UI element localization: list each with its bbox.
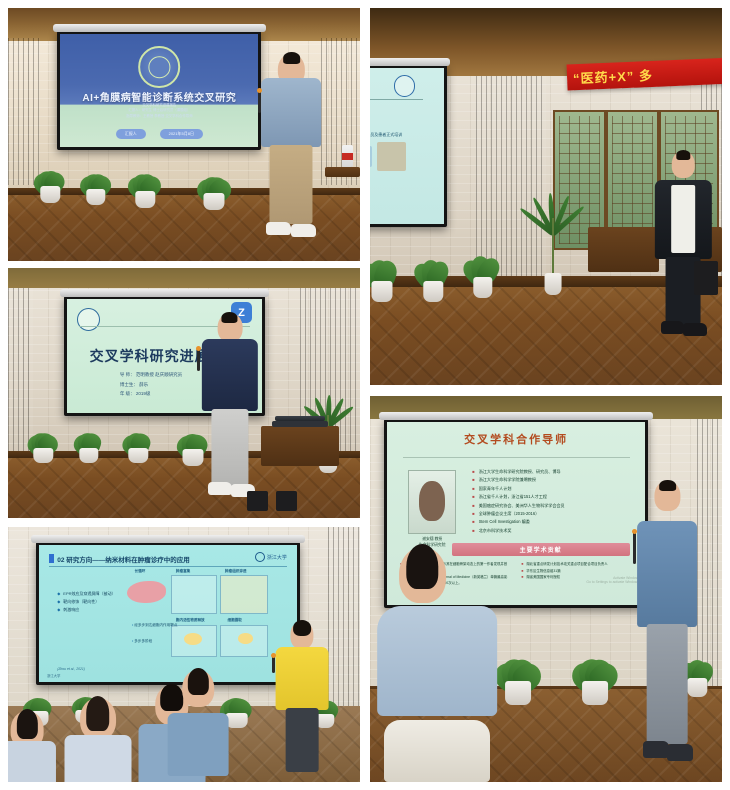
list-item: ◆靶向修饰（靶向性） [57, 598, 115, 606]
scene-lecture-hall: 02 研究方向——纳米材料在肿瘤诊疗中的应用 浙江大学 ◆EPR效应及穿透屏障（… [8, 527, 360, 782]
collage-panel-bottom-right[interactable]: 交叉学科合作导师 谢安穗 教授 生命科学研究院 ■浙江大学生命科学研究院教授、研… [370, 396, 722, 782]
slide-figure [377, 142, 406, 170]
diagram-caption: 细胞摄取 [227, 618, 241, 623]
diagram-caption: 肿瘤富集 [176, 569, 190, 574]
presenter [202, 313, 258, 501]
slide-index: 02 [57, 557, 64, 564]
scene-pavilion-hall: “医药+X” 多 增加： 医疗机构： 对于医护人员及患者正式培训 避免感染发生； [370, 8, 722, 385]
presenter-legs [286, 708, 319, 771]
laptop [272, 421, 328, 427]
crest-icon [77, 308, 100, 331]
list-item: ■全球肿瘤会议主席（2015-2016） [472, 510, 632, 518]
water-bottle [342, 145, 353, 168]
audience-member [68, 698, 128, 782]
presenter-shoe [661, 321, 685, 334]
audience-torso [168, 713, 229, 776]
list-item: ■浙江省千人计划，浙江省151人才工程 [472, 493, 632, 501]
presenter [655, 151, 711, 340]
list-item: ■国家青年千人计划 [472, 485, 632, 493]
audience-head [80, 698, 116, 740]
collage-panel-bottom-left[interactable]: 02 研究方向——纳米材料在肿瘤诊疗中的应用 浙江大学 ◆EPR效应及穿透屏障（… [8, 527, 360, 782]
presenter-shoe [208, 482, 232, 495]
laptop-table [261, 426, 338, 466]
slide-meta: 导 师： 范明教授 赵庆顺研究员 博士生： 薛乐 年 级： 2019级 [120, 370, 182, 398]
scene-lecture-hall: AI+角膜病智能诊断系统交叉研究 交叉学科研究进展报告 汇报人：研究生 博士后研… [8, 8, 360, 261]
list-item: ■Stem Cell Investigation 编委 [472, 518, 632, 526]
list-item: ■浙江大学生命科学研究院教授、研究员、博导 [472, 468, 632, 476]
slide-note: • 多步多阶段 [132, 638, 152, 645]
screen-rail [379, 412, 654, 420]
slide-meta-line-3: 年 级： 2019级 [120, 389, 182, 398]
potted-plant [117, 423, 159, 463]
speaker-box [694, 261, 719, 295]
screen-rail [31, 535, 306, 543]
audience-member [170, 670, 226, 772]
potted-plant [191, 165, 237, 211]
speaker-box [276, 491, 297, 511]
microphone [197, 349, 200, 372]
audience-torso [8, 741, 56, 782]
armchair [384, 720, 490, 782]
scene-lecture-hall: Z 交叉学科研究进展报告 导 师： 范明教授 赵庆顺研究员 博士生： 薛乐 年 … [8, 268, 360, 518]
screen-rail [53, 24, 265, 32]
slide-meta-line-2: 博士生： 薛乐 [120, 380, 182, 389]
diagram-caption: 胞内活性物质释放 [176, 618, 205, 623]
cell-blob [238, 633, 253, 644]
slide-research-direction: 02 研究方向——纳米材料在肿瘤诊疗中的应用 浙江大学 ◆EPR效应及穿透屏障（… [39, 545, 297, 682]
slide-stamp: 浙江大学 [47, 673, 61, 678]
pill-presenter: 汇报人 [116, 129, 146, 139]
photo-collage: AI+角膜病智能诊断系统交叉研究 交叉学科研究进展报告 汇报人：研究生 博士后研… [0, 0, 730, 790]
slide-figure [370, 146, 372, 168]
slide-note: • 经多步到达细胞内作用靶点 [132, 622, 177, 629]
slide-meta: 汇报人：研究生 博士后研究员（课题组） 指导教师：王教授 李教授 交叉学科合作导… [76, 108, 242, 120]
screen-rail [60, 289, 269, 297]
potted-plant [462, 242, 504, 299]
attendee-torso [377, 606, 497, 716]
presenter-shirt [671, 185, 695, 253]
presenter-legs [647, 624, 688, 744]
slide-header-text: 研究方向——纳米材料在肿瘤诊疗中的应用 [66, 557, 190, 564]
presenter-head [672, 151, 695, 178]
list-item: ◆刺激响应 [57, 606, 115, 614]
presenter-head [655, 481, 680, 511]
potted-plant [75, 162, 117, 205]
organ-figure [127, 581, 166, 603]
presenter-shoe [667, 744, 692, 761]
header-accent-bar [49, 554, 53, 564]
presenter-shoe [291, 224, 316, 237]
projector-screen: 增加： 医疗机构： 对于医护人员及患者正式培训 避免感染发生； 构成重复不住。 [370, 65, 447, 227]
presenter-head [290, 621, 313, 648]
projector-screen: 02 研究方向——纳米材料在肿瘤诊疗中的应用 浙江大学 ◆EPR效应及穿透屏障（… [36, 542, 300, 685]
tall-potted-palm [532, 197, 574, 295]
side-table [325, 167, 360, 177]
audience-member [8, 711, 54, 782]
event-banner-text: “医药+X” 多 [573, 64, 654, 86]
presenter-torso [276, 647, 329, 710]
potted-plant [370, 246, 405, 303]
list-item: ■北京市科学技术奖 [472, 527, 632, 535]
zju-logo-icon: 浙江大学 [255, 552, 287, 562]
speaker-box [247, 491, 268, 511]
zju-logo-text: 浙江大学 [267, 554, 287, 561]
slide-meta-line-1: 导 师： 范明教授 赵庆顺研究员 [120, 370, 182, 379]
presenter-shoe [266, 222, 291, 235]
diagram-panel [220, 575, 268, 614]
slide-content: 增加： 医疗机构： 对于医护人员及患者正式培训 避免感染发生； 构成重复不住。 [370, 68, 444, 224]
screen-rail [370, 58, 450, 66]
slide-bullets: ◆EPR效应及穿透屏障（被动） ◆靶向修饰（靶向性） ◆刺激响应 [57, 590, 115, 614]
projector-screen: AI+角膜病智能诊断系统交叉研究 交叉学科研究进展报告 汇报人：研究生 博士后研… [57, 31, 261, 150]
crest-icon [139, 46, 181, 88]
audience-torso [64, 735, 131, 782]
mentor-bullets: ■浙江大学生命科学研究院教授、研究员、博导 ■浙江大学生命科学学院兼聘教授 ■国… [472, 468, 632, 535]
attendee-head [399, 547, 447, 603]
windows-watermark: Activate Windows Go to Settings to activ… [586, 576, 640, 586]
collage-panel-top-left[interactable]: AI+角膜病智能诊断系统交叉研究 交叉学科研究进展报告 汇报人：研究生 博士后研… [8, 8, 360, 261]
potted-plant [124, 162, 166, 208]
slide-citation: (Zhou et al., 2021) [57, 667, 85, 671]
presenter-shoe [643, 741, 668, 758]
watermark-line-2: Go to Settings to activate Windows. [586, 580, 640, 585]
crest-icon [394, 75, 415, 96]
list-item: ■美国癌症研究协会、美洲华人生物科学学会会员 [472, 502, 632, 510]
potted-plant [490, 643, 546, 705]
list-item: ◆EPR效应及穿透屏障（被动） [57, 590, 115, 598]
slide-line-3: 对于医护人员及患者正式培训 [370, 132, 402, 138]
mentor-portrait [408, 470, 456, 534]
slide-pill-row: 汇报人 2021年5月8日 [60, 129, 258, 139]
slide-meta-line-2: 指导教师：王教授 李教授 交叉学科合作导师 [76, 114, 242, 120]
slide-title: 交叉学科合作导师 [387, 431, 645, 447]
scene-lecture-hall: 交叉学科合作导师 谢安穗 教授 生命科学研究院 ■浙江大学生命科学研究院教授、研… [370, 396, 722, 782]
presenter [276, 621, 329, 779]
presenter-shoe [683, 323, 707, 336]
presenter-legs [211, 409, 248, 486]
slide-header: 02 研究方向——纳米材料在肿瘤诊疗中的应用 [57, 554, 190, 564]
diagram-panel [171, 575, 217, 614]
list-item: ■浙江大学生命科学学院兼聘教授 [472, 476, 632, 484]
microphone [633, 532, 636, 563]
presenter-torso [202, 339, 258, 410]
presenter-torso [261, 78, 321, 147]
potted-plant [68, 423, 110, 463]
presenter-legs [270, 145, 313, 224]
slide-subtitle: 交叉学科研究进展报告 [80, 102, 239, 107]
potted-plant [567, 643, 623, 705]
potted-plant [22, 423, 64, 463]
wood-wall-right [321, 38, 360, 185]
microphone [258, 91, 261, 113]
audience-head [182, 670, 214, 707]
cell-blob [184, 633, 202, 645]
presenter-torso [638, 521, 698, 627]
presenter [261, 54, 321, 241]
diagram-caption: 长循环 [135, 569, 146, 574]
tea-table [588, 227, 658, 272]
collage-panel-mid-left[interactable]: Z 交叉学科研究进展报告 导 师： 范明教授 赵庆顺研究员 博士生： 薛乐 年 … [8, 268, 360, 518]
pill-date: 2021年5月8日 [160, 129, 203, 139]
potted-plant [29, 160, 71, 203]
slide-ai-cornea: AI+角膜病智能诊断系统交叉研究 交叉学科研究进展报告 汇报人：研究生 博士后研… [60, 34, 258, 147]
potted-plant [412, 246, 454, 303]
diagram-caption: 肿瘤组织渗透 [225, 569, 247, 574]
presenter-head [217, 313, 242, 342]
microphone [272, 656, 275, 673]
collage-panel-top-right[interactable]: “医药+X” 多 增加： 医疗机构： 对于医护人员及患者正式培训 避免感染发生； [370, 8, 722, 385]
presenter [638, 481, 698, 767]
